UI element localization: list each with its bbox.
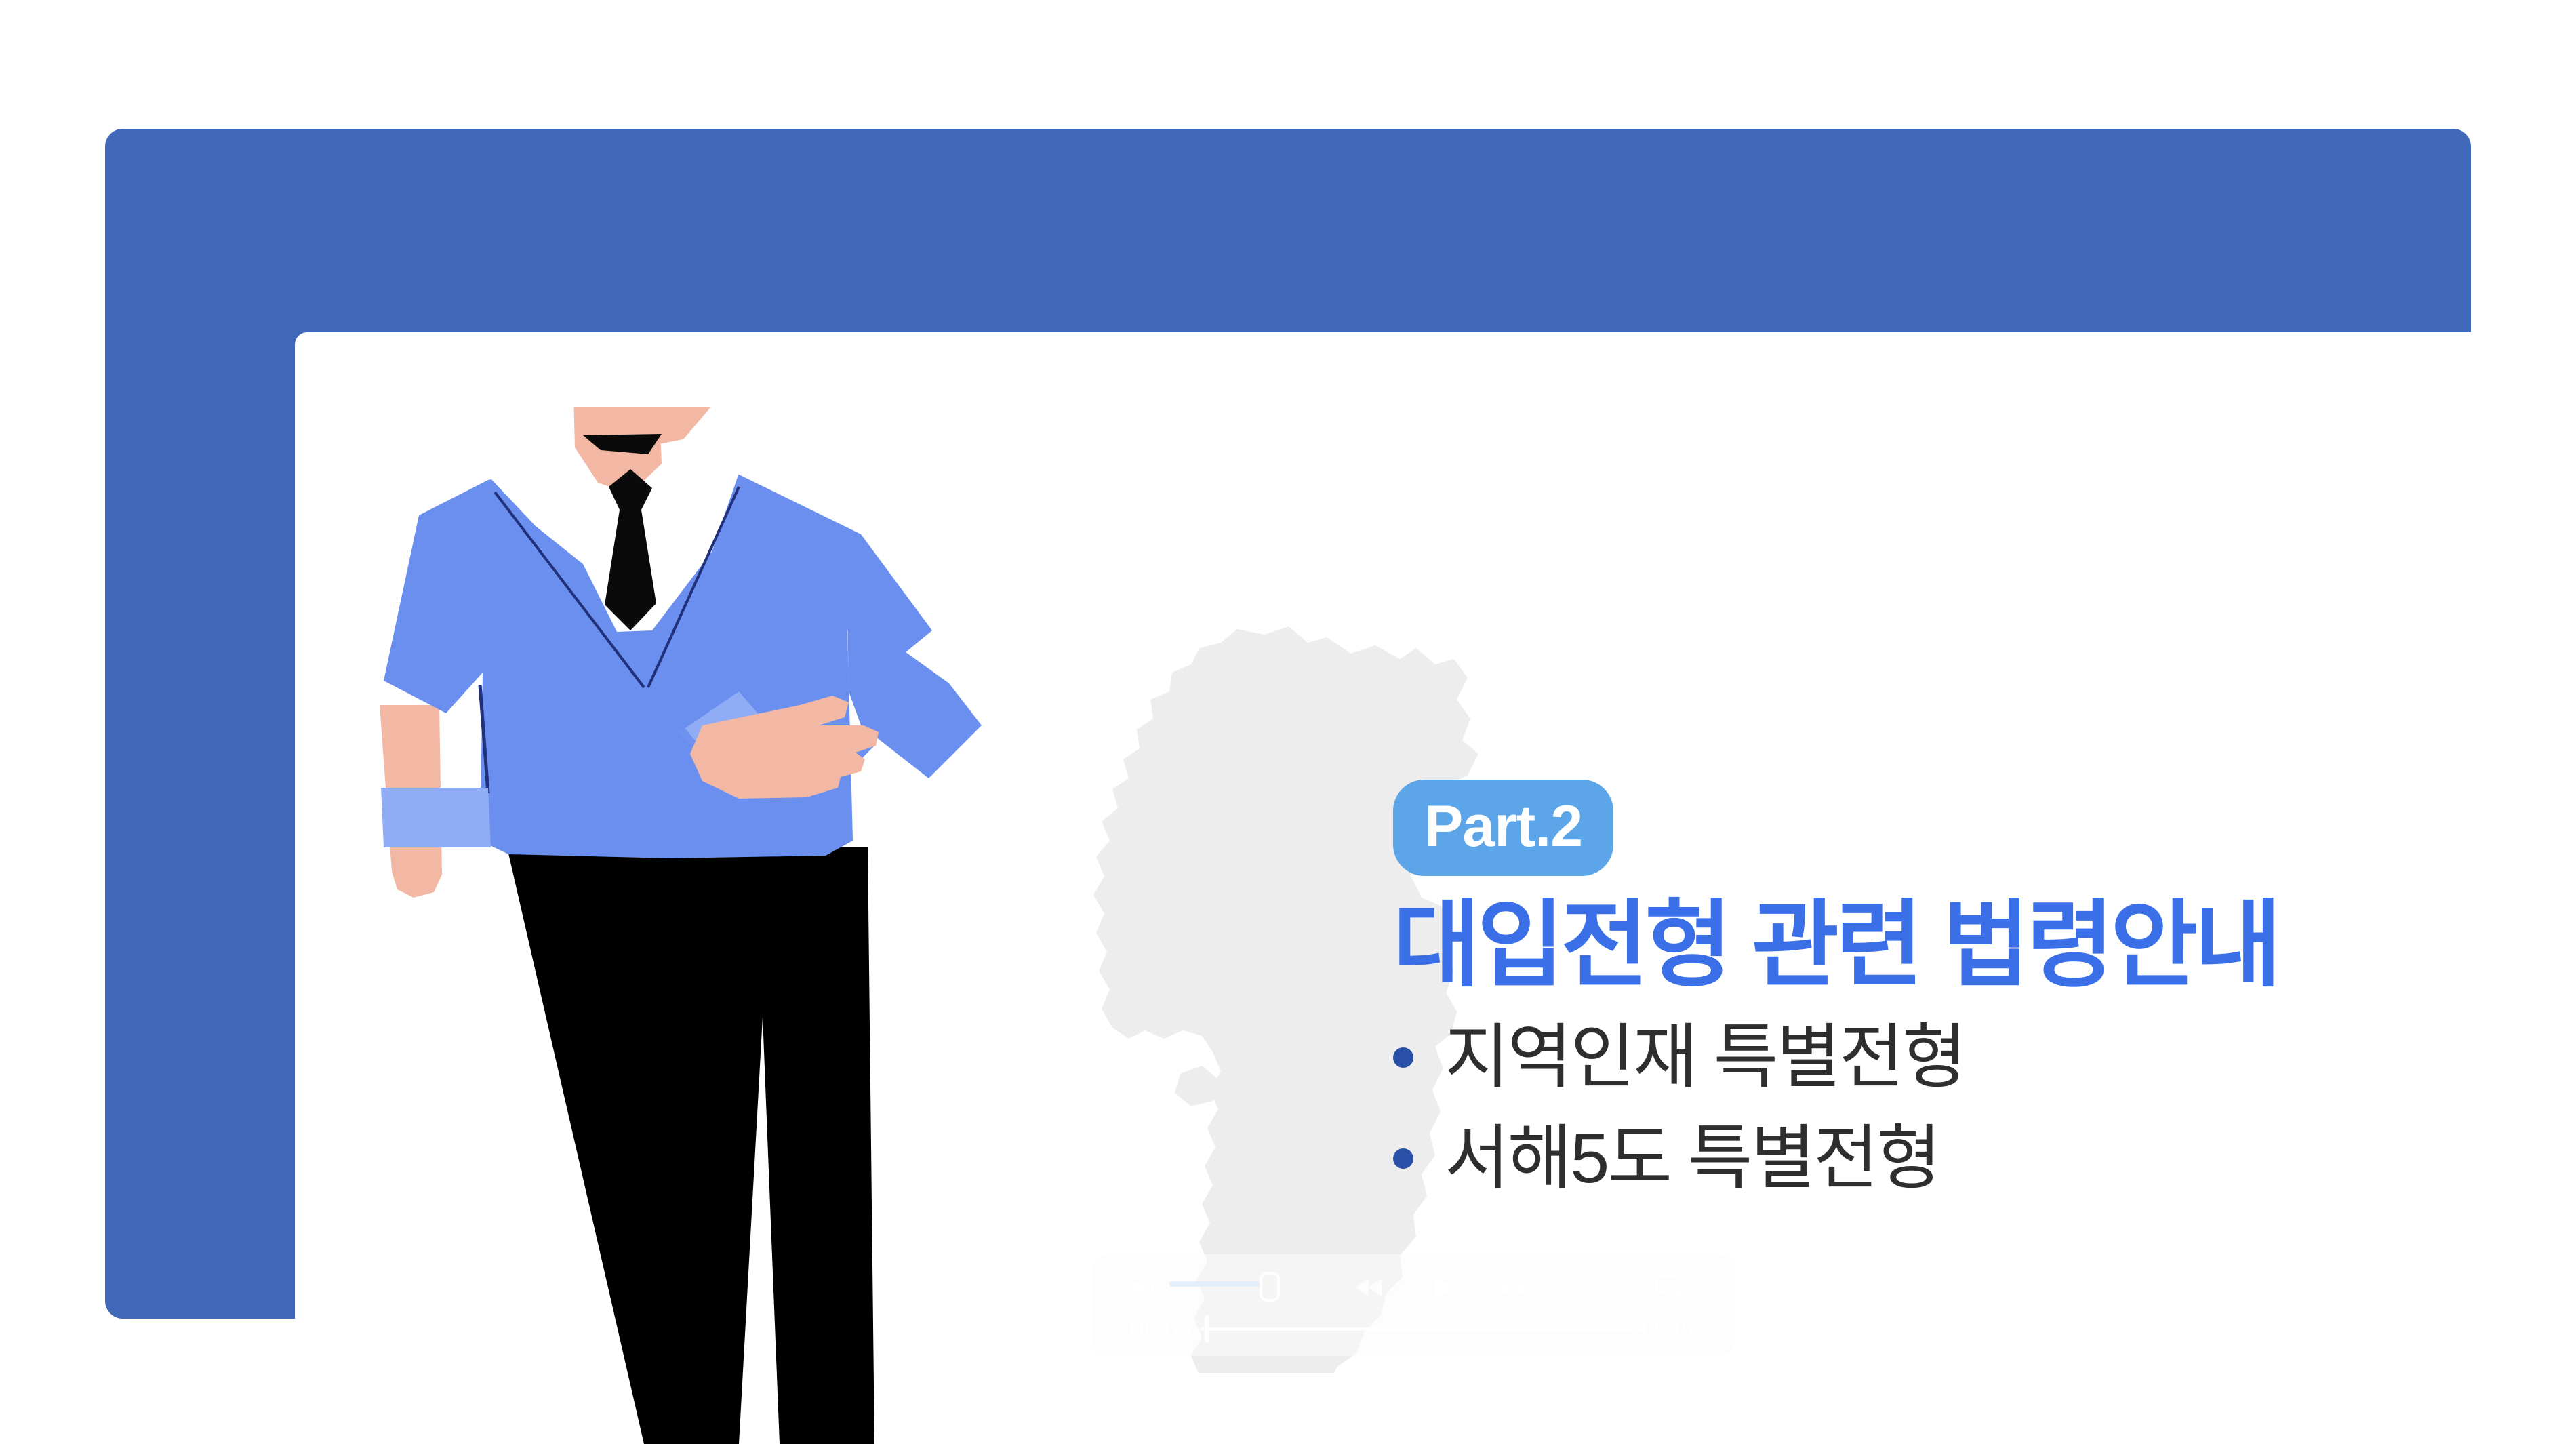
seek-bar-knob[interactable] bbox=[1205, 1315, 1209, 1342]
rewind-icon[interactable] bbox=[1352, 1266, 1388, 1308]
slide-text-block: Part.2 대입전형 관련 법령안내 지역인재 특별전형 서해5도 특별전형 bbox=[1393, 780, 2491, 1220]
chevron-right-icon[interactable] bbox=[1784, 1266, 1811, 1308]
volume-slider-knob[interactable] bbox=[1260, 1272, 1280, 1302]
volume-slider[interactable] bbox=[1169, 1281, 1261, 1287]
bullet-list: 지역인재 특별전형 서해5도 특별전형 bbox=[1393, 1019, 2491, 1197]
picture-in-picture-icon[interactable] bbox=[1654, 1266, 1689, 1308]
bullet-dot-icon bbox=[1393, 1148, 1413, 1169]
list-item: 지역인재 특별전형 bbox=[1393, 1019, 2491, 1096]
play-icon[interactable] bbox=[1424, 1266, 1462, 1308]
seek-bar[interactable] bbox=[1200, 1327, 1647, 1331]
bullet-label: 서해5도 특별전형 bbox=[1445, 1120, 1939, 1197]
page-title: 대입전형 관련 법령안내 bbox=[1393, 894, 2491, 996]
bullet-label: 지역인재 특별전형 bbox=[1445, 1019, 1965, 1096]
bullet-dot-icon bbox=[1393, 1047, 1413, 1068]
fast-forward-icon[interactable] bbox=[1498, 1266, 1533, 1308]
part-number-badge: Part.2 bbox=[1393, 780, 1613, 876]
presenter-illustration bbox=[264, 407, 1146, 1444]
share-icon[interactable] bbox=[1725, 1266, 1756, 1308]
list-item: 서해5도 특별전형 bbox=[1393, 1120, 2491, 1197]
left-cuff bbox=[381, 788, 491, 847]
video-player-controls[interactable]: 00:03 02:45 bbox=[1091, 1254, 1735, 1356]
